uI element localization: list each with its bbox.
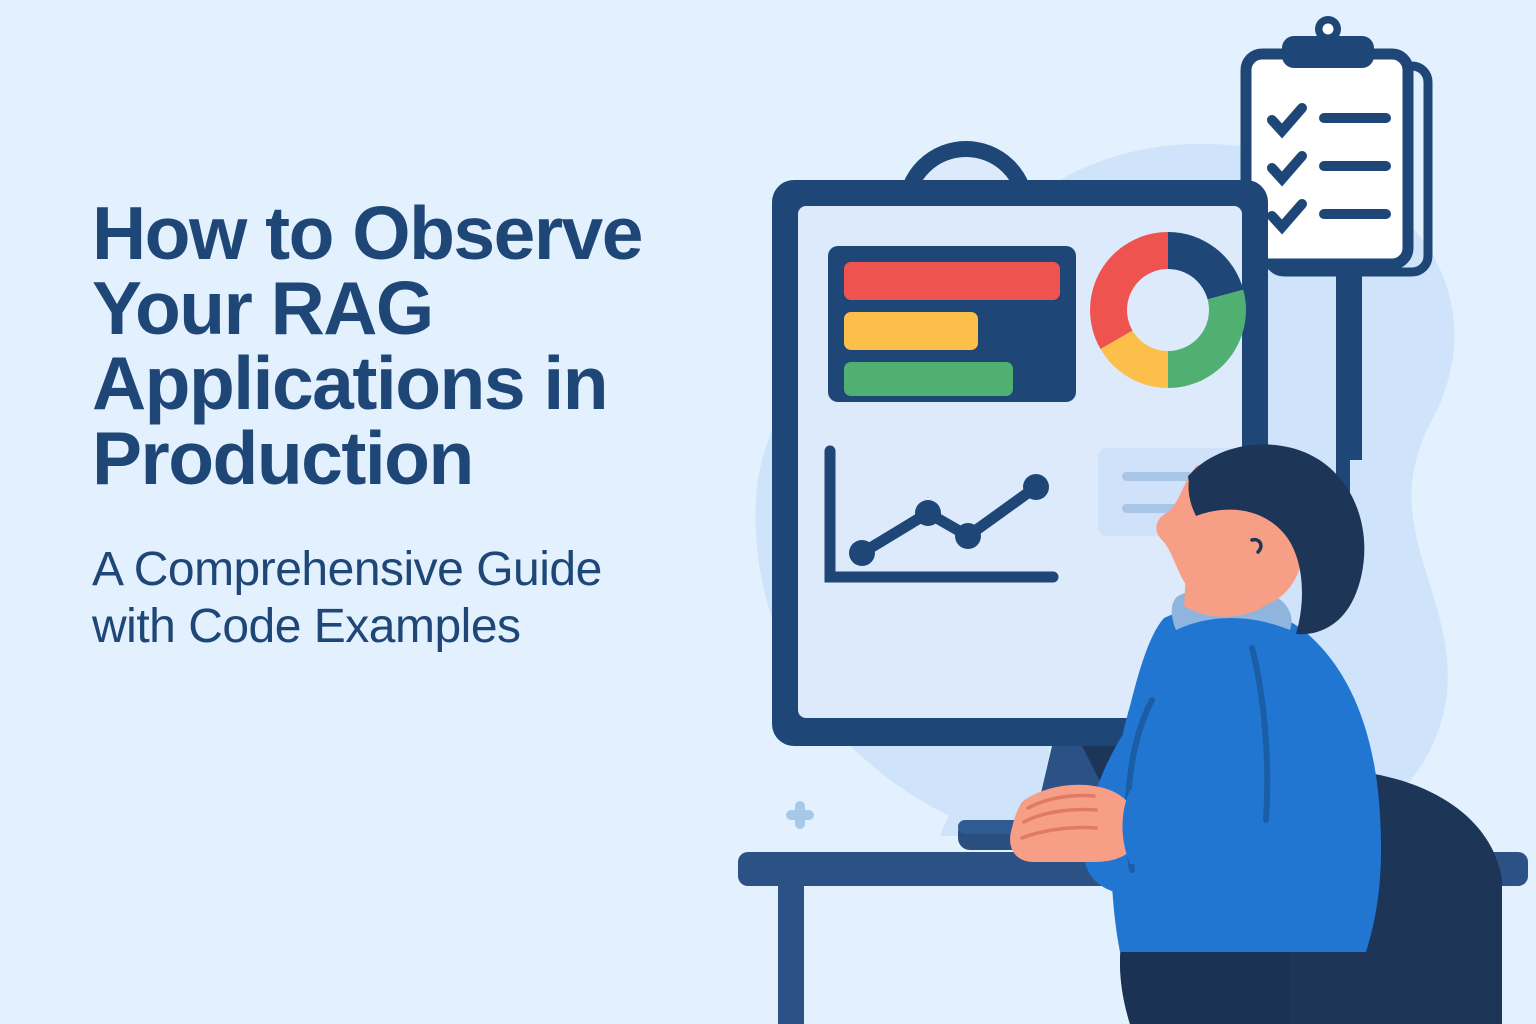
clipboard-checklist-icon (1246, 16, 1428, 272)
hero-banner: How to Observe Your RAG Applications in … (0, 0, 1536, 1024)
bar-3 (844, 362, 1013, 396)
dashboard-horizontal-bar-panel (828, 246, 1076, 402)
text-block: How to Observe Your RAG Applications in … (92, 196, 772, 655)
dashboard-donut-chart (1090, 232, 1246, 388)
donut-hole (1127, 269, 1209, 351)
illustration (690, 0, 1536, 1024)
page-subtitle: A Comprehensive Guide with Code Examples (92, 496, 772, 655)
bar-2 (844, 312, 978, 350)
page-title: How to Observe Your RAG Applications in … (92, 196, 772, 496)
plus-decoration-lower (786, 801, 814, 829)
bar-1 (844, 262, 1060, 300)
